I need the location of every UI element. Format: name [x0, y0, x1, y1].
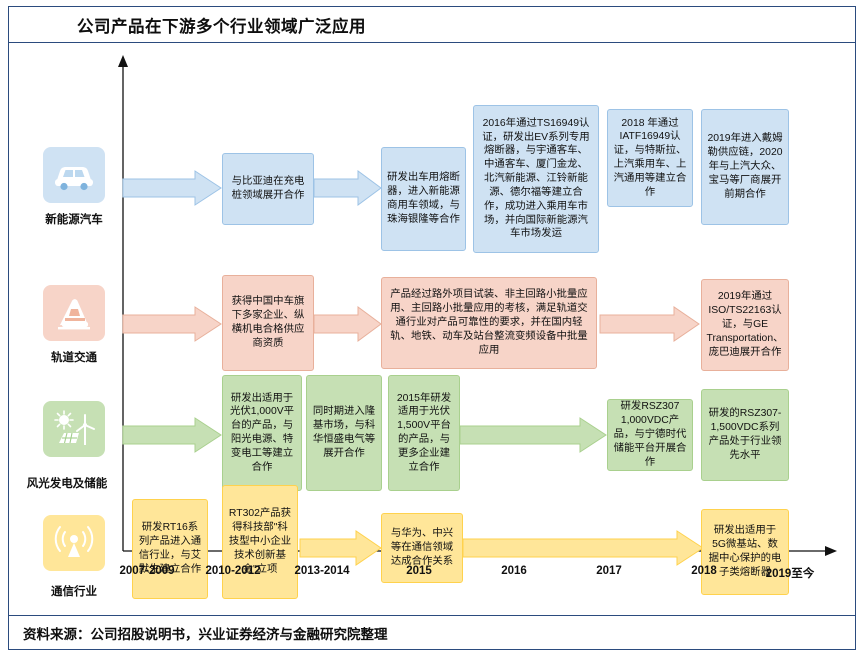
milestone-rail-1: 获得中国中车旗下多家企业、纵横机电合格供应商资质	[222, 275, 314, 371]
x-tick-2013-2014: 2013-2014	[267, 565, 377, 577]
timeline-canvas: 新能源汽车 与比亚迪在充电桩领域展开合作 研发出车用熔断器，进入新能源商用车领域…	[9, 43, 855, 615]
arrow-wss-2	[458, 416, 610, 454]
source-text: 资料来源：公司招股说明书，兴业证券经济与金融研究院整理	[23, 623, 388, 643]
milestone-nev-2: 研发出车用熔断器，进入新能源商用车领域，与珠海银隆等合作	[381, 147, 466, 251]
milestone-wss-5: 研发的RSZ307-1,500VDC系列产品处于行业领先水平	[701, 389, 789, 481]
car-icon	[51, 158, 97, 192]
row-label-wind-solar-storage: 风光发电及储能	[15, 475, 119, 491]
train-icon	[52, 295, 96, 331]
arrow-rail-3	[598, 305, 703, 343]
milestone-rail-2: 产品经过路外项目试装、非主回路小批量应用、主回路小批量应用的考核，满足轨道交通行…	[381, 277, 597, 369]
row-icon-new-energy-vehicle	[43, 147, 105, 203]
row-label-new-energy-vehicle: 新能源汽车	[22, 211, 126, 227]
page-title-bar: 公司产品在下游多个行业领域广泛应用	[9, 7, 855, 43]
arrow-rail-1	[121, 305, 225, 343]
arrow-wss-1	[121, 416, 225, 454]
arrow-nev-2	[312, 169, 384, 207]
arrow-comm-1	[298, 529, 384, 567]
x-tick-2017: 2017	[554, 565, 664, 577]
milestone-comm-2: RT302产品获得科技部"科技型中小企业技术创新基金"立项	[222, 485, 298, 599]
milestone-wss-4: 研发RSZ307 1,000VDC产品，与宁德时代储能平台开展合作	[607, 399, 693, 471]
milestone-comm-1: 研发RT16系列产品进入通信行业，与艾默生建立合作	[132, 499, 208, 599]
milestone-nev-4: 2018 年通过IATF16949认证，与特斯拉、上汽乘用车、上汽通用等建立合作	[607, 109, 693, 207]
milestone-wss-3: 2015年研发适用于光伏1,500V平台的产品，与更多企业建立合作	[388, 375, 460, 491]
row-icon-communication	[43, 515, 105, 571]
x-tick-2016: 2016	[459, 565, 569, 577]
arrow-nev-1	[121, 169, 225, 207]
x-tick-2015: 2015	[364, 565, 474, 577]
milestone-rail-3: 2019年通过ISO/TS22163认证，与GE Transportation、…	[701, 279, 789, 371]
row-icon-rail-transit	[43, 285, 105, 341]
x-tick-2019-now: 2019至今	[735, 565, 845, 581]
antenna-icon	[52, 523, 96, 563]
row-label-rail-transit: 轨道交通	[22, 349, 126, 365]
arrow-comm-2	[461, 529, 707, 567]
row-label-communication: 通信行业	[22, 583, 126, 599]
page-title: 公司产品在下游多个行业领域广泛应用	[77, 13, 366, 37]
milestone-nev-5: 2019年进入戴姆勒供应链，2020年与上汽大众、宝马等厂商展开前期合作	[701, 109, 789, 225]
arrow-rail-2	[312, 305, 384, 343]
milestone-wss-2: 同时期进入隆基市场，与科华恒盛电气等展开合作	[306, 375, 382, 491]
source-footer: 资料来源：公司招股说明书，兴业证券经济与金融研究院整理	[9, 615, 855, 649]
row-icon-wind-solar-storage	[43, 401, 105, 457]
milestone-nev-3: 2016年通过TS16949认证，研发出EV系列专用熔断器，与宇通客车、中通客车…	[473, 105, 599, 253]
milestone-nev-1: 与比亚迪在充电桩领域展开合作	[222, 153, 314, 225]
milestone-wss-1: 研发出适用于光伏1,000V平台的产品，与阳光电源、特变电工等建立合作	[222, 375, 302, 491]
milestone-comm-4: 研发出适用于5G微基站、数据中心保护的电子类熔断器	[701, 509, 789, 595]
solar-wind-icon	[51, 409, 97, 449]
